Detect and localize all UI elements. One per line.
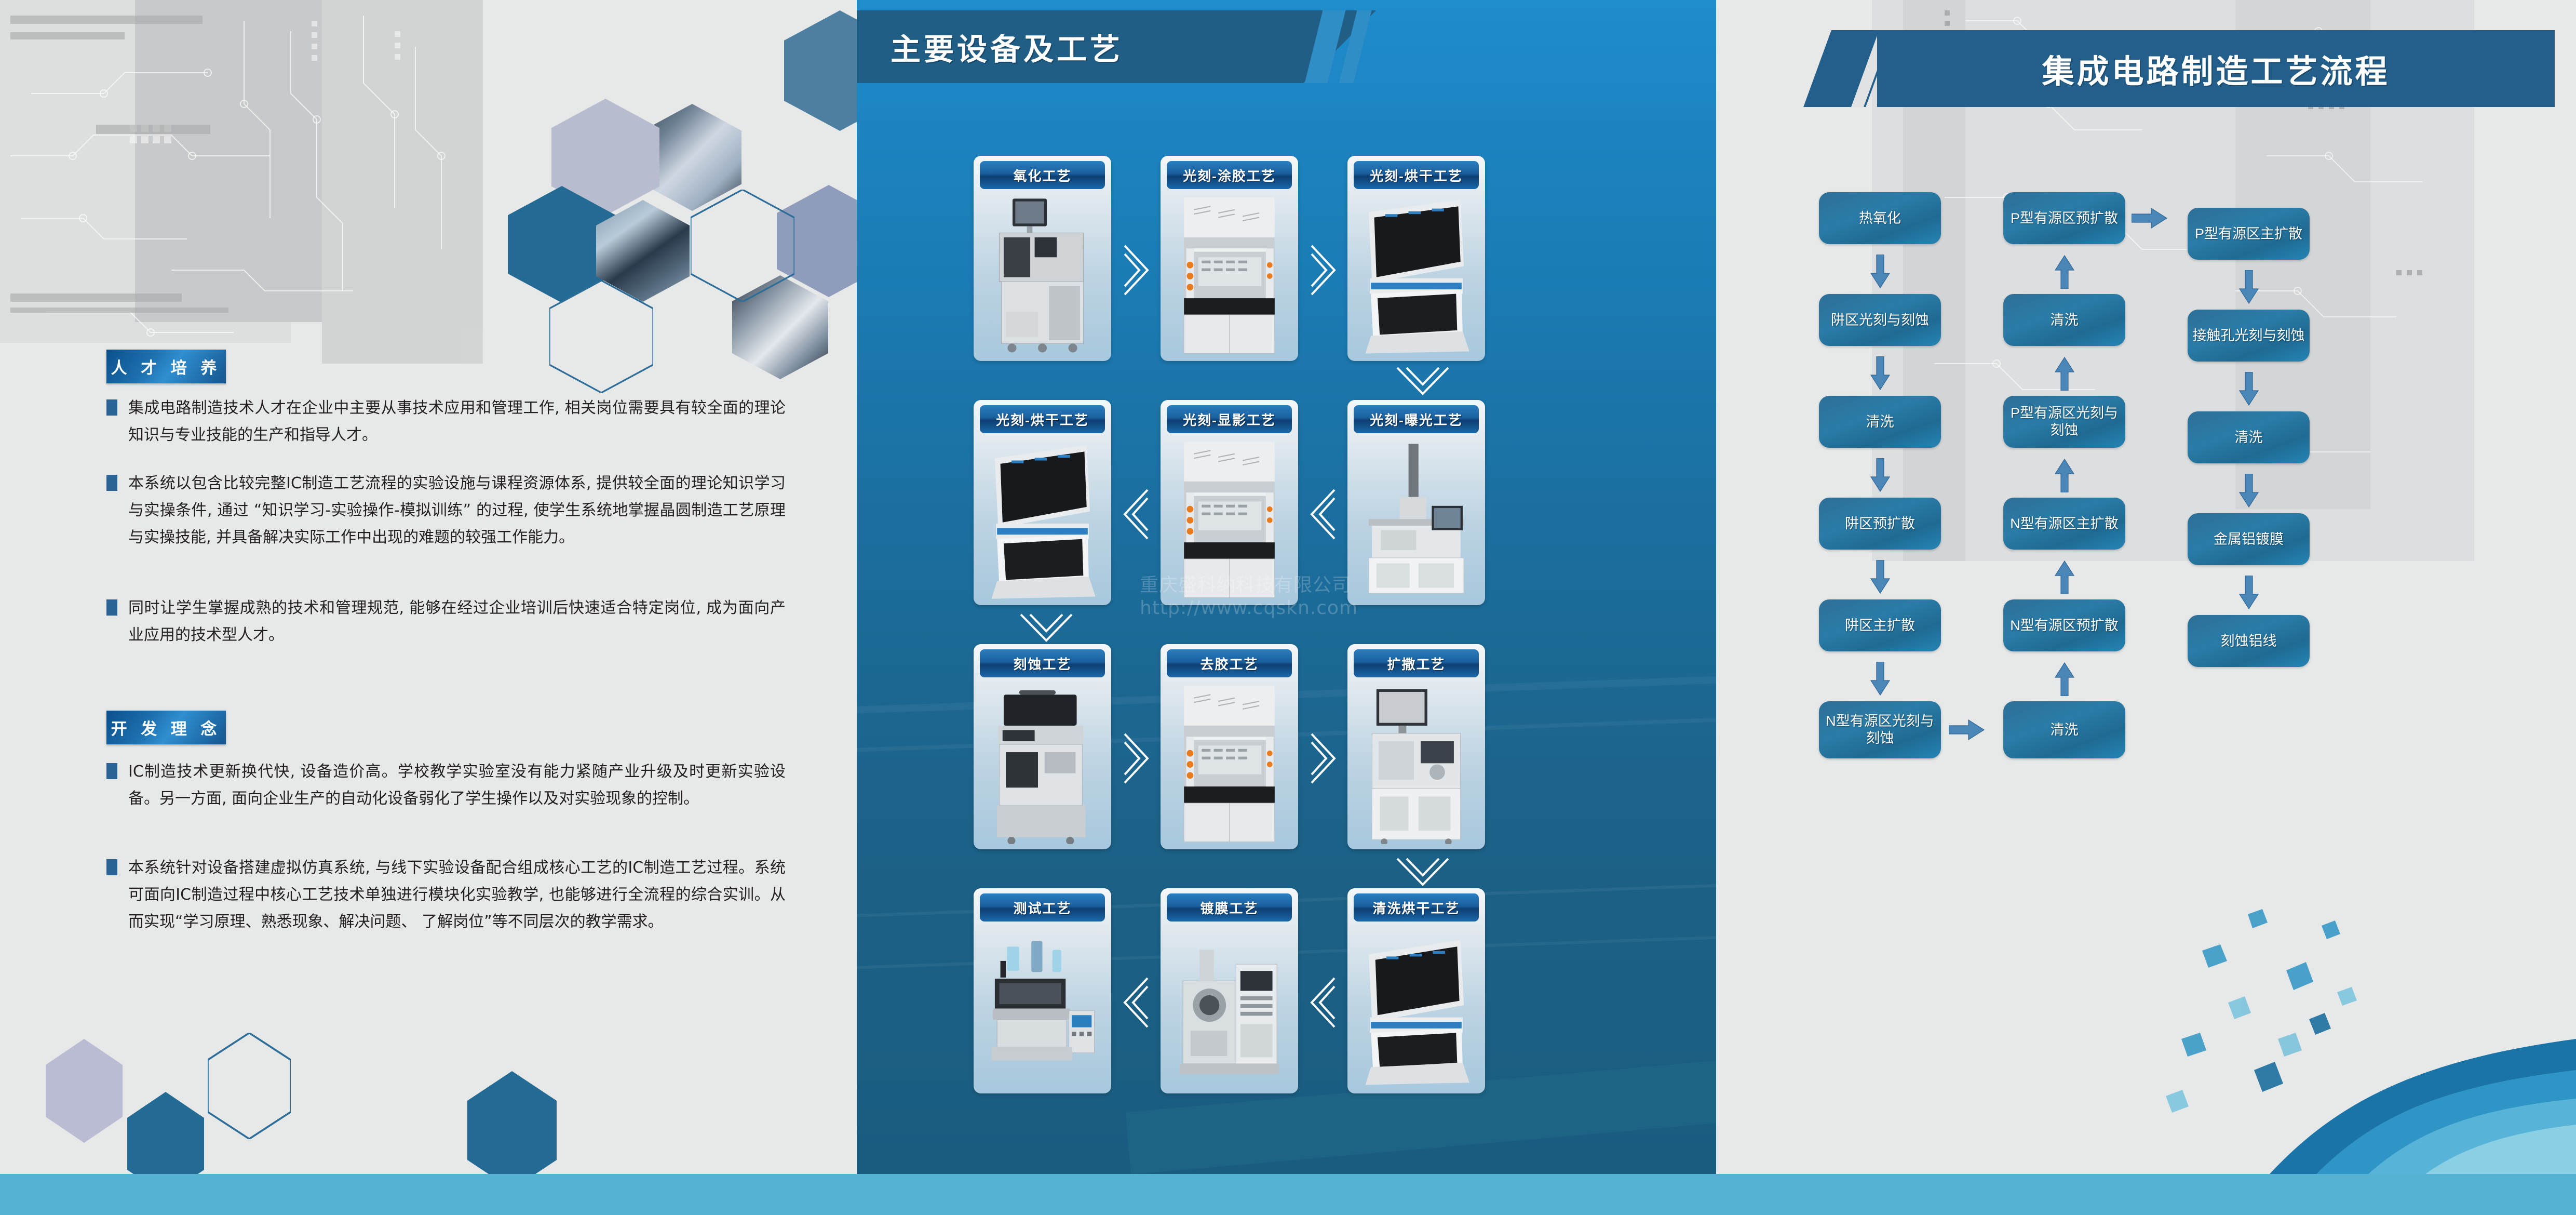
- equipment-card-label: 光刻-显影工艺: [1167, 405, 1292, 433]
- bullet-square-icon: [106, 475, 117, 491]
- equipment-card-label: 光刻-烘干工艺: [1354, 161, 1479, 189]
- exposure-aligner-photo: [1361, 439, 1472, 600]
- equipment-card-label: 光刻-曝光工艺: [1354, 405, 1479, 433]
- arrow-up-icon: [2055, 356, 2074, 391]
- hexagon-outline-2: [549, 281, 653, 393]
- bottom-accent-bar: [0, 1174, 2576, 1215]
- bullet-square-icon: [106, 399, 117, 416]
- bullet-square-icon: [106, 599, 117, 616]
- arrow-down-icon: [2239, 576, 2259, 610]
- bullet-philosophy-1: IC制造技术更新换代快, 设备造价高。学校教学实验室没有能力紧随产业升级及时更新…: [106, 758, 786, 812]
- clean-dry-oven-photo: [1361, 928, 1472, 1088]
- arrow-right-icon: [2132, 208, 2168, 229]
- flow-box[interactable]: 清洗: [2003, 294, 2125, 346]
- flow-box[interactable]: 阱区主扩散: [1819, 599, 1941, 651]
- chevron-right-icon: [1307, 242, 1339, 299]
- arrow-down-icon: [2239, 372, 2259, 406]
- equipment-card[interactable]: 清洗烘干工艺: [1347, 888, 1485, 1093]
- flow-box[interactable]: P型有源区光刻与刻蚀: [2003, 396, 2125, 448]
- equipment-card[interactable]: 刻蚀工艺: [974, 644, 1111, 849]
- bullet-text: IC制造技术更新换代快, 设备造价高。学校教学实验室没有能力紧随产业升级及时更新…: [128, 758, 786, 812]
- chevron-down-icon: [1018, 610, 1075, 647]
- equipment-card[interactable]: 光刻-涂胶工艺: [1161, 156, 1298, 361]
- flow-box[interactable]: 阱区预扩散: [1819, 498, 1941, 550]
- chevron-left-icon: [1307, 974, 1339, 1031]
- etcher-photo: [987, 684, 1098, 844]
- equipment-card-label: 刻蚀工艺: [980, 649, 1105, 677]
- equipment-card-label: 扩撒工艺: [1354, 649, 1479, 677]
- bake-oven-photo: [1361, 195, 1472, 356]
- equipment-card[interactable]: 镀膜工艺: [1161, 888, 1298, 1093]
- equipment-card-label: 光刻-烘干工艺: [980, 405, 1105, 433]
- equipment-card[interactable]: 去胶工艺: [1161, 644, 1298, 849]
- bullet-square-icon: [106, 763, 117, 779]
- arrow-down-icon: [1870, 560, 1890, 594]
- bullet-text: 集成电路制造技术人才在企业中主要从事技术应用和管理工作, 相关岗位需要具有较全面…: [128, 395, 786, 449]
- right-panel: 集成电路制造工艺流程 热氧化 阱区光刻与刻蚀 清洗 阱区预扩散 阱区主扩散 N型…: [1716, 0, 2576, 1215]
- equipment-card-label: 去胶工艺: [1167, 649, 1292, 677]
- chevron-left-icon: [1121, 486, 1152, 543]
- arrow-down-icon: [1870, 458, 1890, 492]
- oxidation-furnace-photo: [987, 195, 1098, 356]
- arrow-up-icon: [2055, 458, 2074, 492]
- flow-box[interactable]: P型有源区预扩散: [2003, 192, 2125, 244]
- chevron-down-icon: [1394, 364, 1451, 400]
- flow-box[interactable]: P型有源区主扩散: [2188, 208, 2310, 260]
- flow-box[interactable]: 清洗: [2188, 411, 2310, 463]
- arrow-up-icon: [2055, 560, 2074, 594]
- poster-canvas: 人 才 培 养 集成电路制造技术人才在企业中主要从事技术应用和管理工作, 相关岗…: [0, 0, 2576, 1215]
- hexagon-dark-1: [784, 10, 857, 131]
- decorative-wave: [2150, 883, 2576, 1174]
- arrow-down-icon: [1870, 662, 1890, 696]
- left-panel: 人 才 培 养 集成电路制造技术人才在企业中主要从事技术应用和管理工作, 相关岗…: [0, 0, 857, 1215]
- equipment-card[interactable]: 光刻-烘干工艺: [1347, 156, 1485, 361]
- stripper-hood-photo: [1174, 684, 1285, 844]
- flow-box[interactable]: 清洗: [1819, 396, 1941, 448]
- bullet-philosophy-2: 本系统针对设备搭建虚拟仿真系统, 与线下实验设备配合组成核心工艺的IC制造工艺过…: [106, 854, 786, 936]
- bullet-talent-1: 集成电路制造技术人才在企业中主要从事技术应用和管理工作, 相关岗位需要具有较全面…: [106, 395, 786, 449]
- flow-box[interactable]: 金属铝镀膜: [2188, 513, 2310, 565]
- arrow-down-icon: [2239, 474, 2259, 508]
- section-chip-talent: 人 才 培 养: [106, 350, 226, 383]
- right-panel-header-wrap: 集成电路制造工艺流程: [1817, 30, 2555, 107]
- equipment-card[interactable]: 氧化工艺: [974, 156, 1111, 361]
- section-chip-philosophy: 开 发 理 念: [106, 711, 226, 744]
- bullet-talent-3: 同时让学生掌握成熟的技术和管理规范, 能够在经过企业培训后快速适合特定岗位, 成…: [106, 595, 786, 649]
- flow-box[interactable]: N型有源区光刻与刻蚀: [1819, 701, 1941, 758]
- equipment-card[interactable]: 光刻-烘干工艺: [974, 400, 1111, 605]
- middle-panel-header: 主要设备及工艺: [857, 10, 1376, 83]
- hexagon-cluster-top: [0, 0, 857, 374]
- hexagon-cluster-bottom: [0, 977, 727, 1195]
- chevron-right-icon: [1121, 242, 1152, 299]
- middle-panel-title: 主要设备及工艺: [891, 25, 1123, 69]
- chevron-right-icon: [1307, 730, 1339, 787]
- develop-hood-photo: [1174, 439, 1285, 600]
- equipment-card[interactable]: 测试工艺: [974, 888, 1111, 1093]
- section-chip-talent-label: 人 才 培 养: [111, 355, 222, 378]
- flow-box[interactable]: 热氧化: [1819, 192, 1941, 244]
- bullet-text: 本系统针对设备搭建虚拟仿真系统, 与线下实验设备配合组成核心工艺的IC制造工艺过…: [128, 854, 786, 936]
- flow-box[interactable]: 阱区光刻与刻蚀: [1819, 294, 1941, 346]
- flow-box[interactable]: 刻蚀铝线: [2188, 615, 2310, 667]
- bullet-text: 同时让学生掌握成熟的技术和管理规范, 能够在经过企业培训后快速适合特定岗位, 成…: [128, 595, 786, 649]
- section-chip-philosophy-label: 开 发 理 念: [111, 716, 222, 739]
- arrow-down-icon: [1870, 255, 1890, 289]
- equipment-card-label: 清洗烘干工艺: [1354, 893, 1479, 922]
- right-panel-header: 集成电路制造工艺流程: [1877, 30, 2555, 107]
- bullet-talent-2: 本系统以包含比较完整IC制造工艺流程的实验设施与课程资源体系, 提供较全面的理论…: [106, 470, 786, 551]
- chevron-down-icon: [1394, 854, 1451, 891]
- flow-box[interactable]: 清洗: [2003, 701, 2125, 758]
- right-panel-title: 集成电路制造工艺流程: [2042, 45, 2390, 92]
- hexagon-outline-1: [691, 190, 794, 302]
- bullet-square-icon: [106, 859, 117, 875]
- equipment-card[interactable]: 光刻-曝光工艺: [1347, 400, 1485, 605]
- arrow-up-icon: [2055, 255, 2074, 289]
- flow-box[interactable]: N型有源区主扩散: [2003, 498, 2125, 550]
- equipment-card-label: 镀膜工艺: [1167, 893, 1292, 922]
- arrow-down-icon: [2239, 270, 2259, 304]
- flow-box[interactable]: 接触孔光刻与刻蚀: [2188, 310, 2310, 362]
- hexagon-light-3: [46, 1039, 123, 1143]
- hexagon-outline-3: [208, 1033, 291, 1139]
- equipment-card[interactable]: 扩撒工艺: [1347, 644, 1485, 849]
- arrow-up-icon: [2055, 662, 2074, 696]
- probe-station-photo: [987, 928, 1098, 1088]
- arrow-down-icon: [1870, 356, 1890, 391]
- equipment-card-label: 测试工艺: [980, 893, 1105, 922]
- arrow-right-icon: [1949, 719, 1985, 740]
- flow-box[interactable]: N型有源区预扩散: [2003, 599, 2125, 651]
- sputter-coater-photo: [1174, 928, 1285, 1088]
- equipment-card-label: 氧化工艺: [980, 161, 1105, 189]
- chevron-left-icon: [1307, 486, 1339, 543]
- chevron-right-icon: [1121, 730, 1152, 787]
- hexagon-dark-4: [467, 1071, 557, 1190]
- middle-panel: 主要设备及工艺 氧化工艺: [857, 0, 1716, 1174]
- bullet-text: 本系统以包含比较完整IC制造工艺流程的实验设施与课程资源体系, 提供较全面的理论…: [128, 470, 786, 551]
- diffusion-furnace-photo: [1361, 684, 1472, 844]
- equipment-card[interactable]: 光刻-显影工艺: [1161, 400, 1298, 605]
- coating-hood-photo: [1174, 195, 1285, 356]
- equipment-card-label: 光刻-涂胶工艺: [1167, 161, 1292, 189]
- chevron-left-icon: [1121, 974, 1152, 1031]
- bake-oven-2-photo: [987, 439, 1098, 600]
